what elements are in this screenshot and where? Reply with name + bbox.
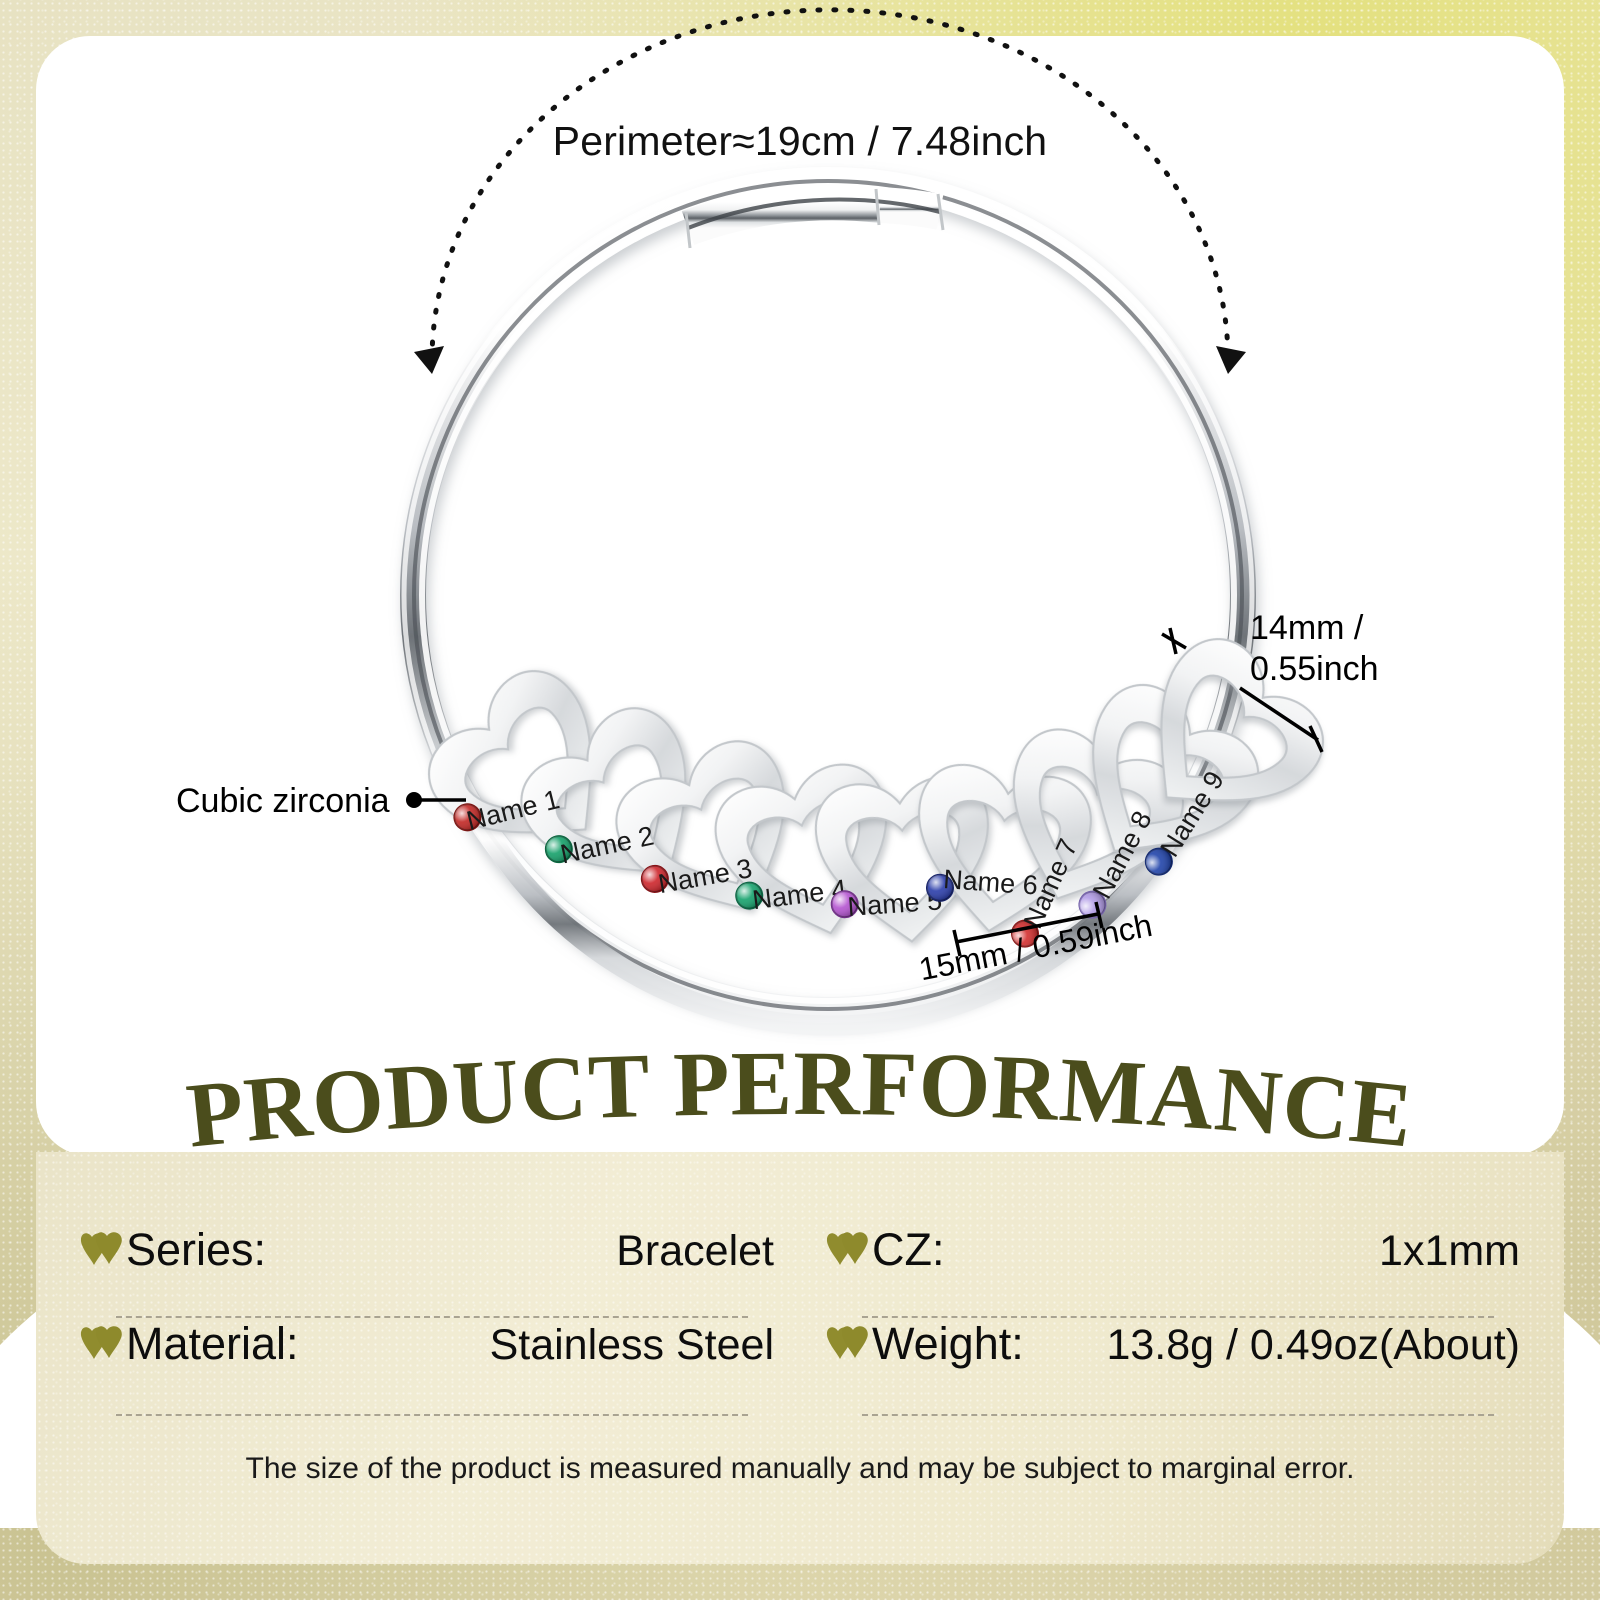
spec-line: Material: Stainless Steel	[80, 1318, 774, 1414]
spec-cell-series: Series: Bracelet	[72, 1224, 782, 1318]
spec-line: CZ: 1x1mm	[826, 1224, 1520, 1316]
double-heart-icon	[80, 1231, 124, 1271]
spec-value: Stainless Steel	[490, 1321, 774, 1370]
spec-line: Series: Bracelet	[80, 1224, 774, 1316]
spec-key: Series:	[126, 1224, 266, 1276]
footnote: The size of the product is measured manu…	[0, 1452, 1600, 1486]
spec-divider	[116, 1414, 748, 1416]
double-heart-icon	[826, 1325, 870, 1365]
spec-key: Material:	[126, 1318, 299, 1370]
double-heart-icon	[826, 1231, 870, 1271]
double-heart-icon	[80, 1325, 124, 1365]
bracelet-illustration: Name 1 Name 2 Name 3 Name 4	[0, 0, 1600, 1100]
spec-grid: Series: Bracelet CZ: 1x1mm	[72, 1224, 1528, 1416]
bangle-width-label: 14mm / 0.55inch	[1250, 608, 1379, 691]
spec-value: 1x1mm	[1379, 1227, 1520, 1276]
spec-key: Weight:	[872, 1318, 1024, 1370]
spec-value: Bracelet	[616, 1227, 774, 1276]
spec-line: Weight: 13.8g / 0.49oz(About)	[826, 1318, 1520, 1414]
infographic-canvas: Perimeter≈19cm / 7.48inch	[0, 0, 1600, 1600]
clasp	[686, 189, 943, 248]
spec-value: 13.8g / 0.49oz(About)	[1106, 1321, 1520, 1370]
spec-divider	[862, 1414, 1494, 1416]
cubic-zirconia-label: Cubic zirconia	[176, 782, 390, 821]
spec-cell-material: Material: Stainless Steel	[72, 1318, 782, 1416]
spec-cell-weight: Weight: 13.8g / 0.49oz(About)	[818, 1318, 1528, 1416]
spec-cell-cz: CZ: 1x1mm	[818, 1224, 1528, 1318]
spec-key: CZ:	[872, 1224, 945, 1276]
